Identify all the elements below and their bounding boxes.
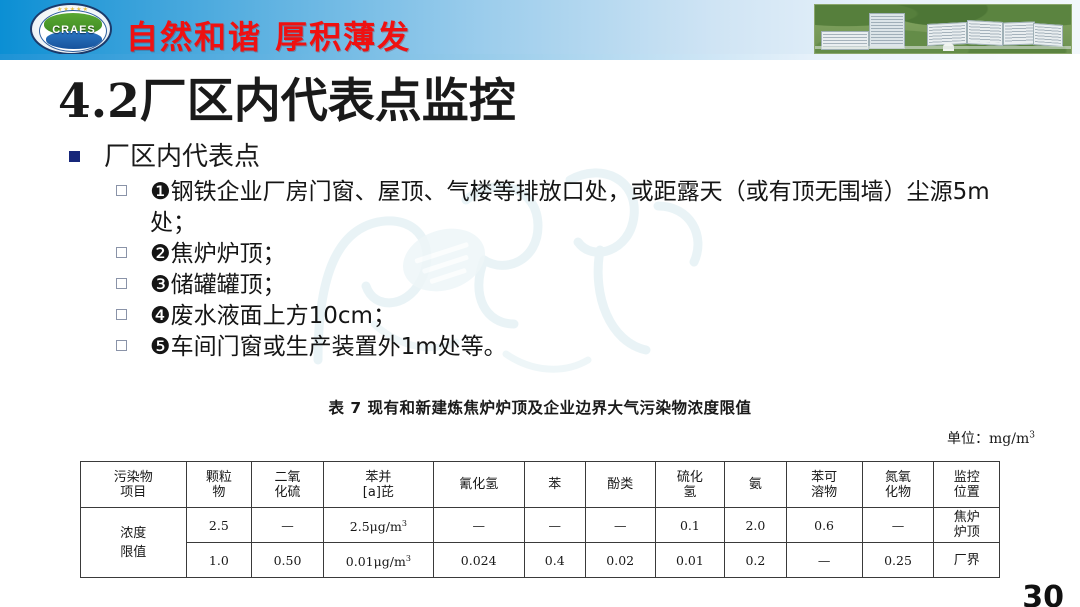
photo-building bbox=[1033, 23, 1063, 47]
list-item-marker: ❹ bbox=[150, 303, 171, 329]
table-cell: 1.0 bbox=[186, 543, 251, 578]
table-cell: — bbox=[524, 508, 585, 543]
hollow-square-bullet-icon bbox=[116, 278, 127, 289]
table-cell: — bbox=[252, 508, 324, 543]
table-cell: 0.50 bbox=[252, 543, 324, 578]
bullet-level1-label: 厂区内代表点 bbox=[104, 142, 260, 172]
page-number: 30 bbox=[1022, 580, 1064, 607]
table-caption: 表 7 现有和新建炼焦炉炉顶及企业边界大气污染物浓度限值 bbox=[0, 396, 1080, 418]
table-cell: 0.25 bbox=[862, 543, 934, 578]
table-header-cell: 颗粒 物 bbox=[186, 462, 251, 508]
slide-header-banner: ★★★★★ CRAES 自然和谐 厚积薄发 bbox=[0, 0, 1080, 60]
table-header-cell: 氮氧 化物 bbox=[862, 462, 934, 508]
units-prefix: 单位： bbox=[947, 431, 989, 447]
logo-acronym-text: CRAES bbox=[40, 24, 107, 36]
presentation-slide: ★★★★★ CRAES 自然和谐 厚积薄发 bbox=[0, 0, 1080, 607]
table-header-cell: 硫化 氢 bbox=[655, 462, 725, 508]
list-item: ❷焦炉炉顶； bbox=[112, 239, 1022, 270]
square-bullet-icon bbox=[69, 151, 80, 162]
photo-building bbox=[1003, 21, 1035, 45]
units-superscript: 3 bbox=[1029, 430, 1035, 440]
craes-logo: ★★★★★ CRAES bbox=[30, 3, 112, 55]
hollow-square-bullet-icon bbox=[116, 185, 127, 196]
list-item-marker: ❸ bbox=[150, 272, 171, 298]
list-item-label: 废水液面上方10cm； bbox=[171, 303, 396, 329]
list-item-marker: ❺ bbox=[150, 334, 171, 360]
pollutant-limits-table: 污染物 项目 颗粒 物 二氧 化硫 苯并 [a]芘 氰化氢 bbox=[80, 461, 1000, 578]
table-cell: — bbox=[862, 508, 934, 543]
photo-road bbox=[815, 46, 1071, 49]
table-cell: — bbox=[585, 508, 655, 543]
table-header-cell: 二氧 化硫 bbox=[252, 462, 324, 508]
table-header-row: 污染物 项目 颗粒 物 二氧 化硫 苯并 [a]芘 氰化氢 bbox=[81, 462, 1000, 508]
units-value: mg/m bbox=[989, 431, 1029, 447]
table-cell: 0.01 bbox=[655, 543, 725, 578]
table-cell: 0.6 bbox=[786, 508, 862, 543]
table-cell: 2.0 bbox=[725, 508, 786, 543]
table-header-cell: 酚类 bbox=[585, 462, 655, 508]
table-row: 1.0 0.50 0.01μg/m3 0.024 0.4 0.02 0.01 0… bbox=[81, 543, 1000, 578]
list-item: ❶钢铁企业厂房门窗、屋顶、气楼等排放口处，或距露天（或有顶无围墙）尘源5m处； bbox=[112, 177, 1022, 239]
logo-oval: ★★★★★ CRAES bbox=[30, 3, 112, 55]
header-bottom-strip bbox=[0, 54, 1080, 60]
table-cell: 0.02 bbox=[585, 543, 655, 578]
table-header-cell: 污染物 项目 bbox=[81, 462, 187, 508]
table-header-cell: 苯并 [a]芘 bbox=[323, 462, 433, 508]
list-item-marker: ❷ bbox=[150, 241, 171, 267]
hollow-square-bullet-icon bbox=[116, 340, 127, 351]
table-header-cell: 氨 bbox=[725, 462, 786, 508]
table-cell: 0.024 bbox=[433, 543, 524, 578]
table-cell: — bbox=[786, 543, 862, 578]
hollow-square-bullet-icon bbox=[116, 247, 127, 258]
list-item: ❹废水液面上方10cm； bbox=[112, 301, 1022, 332]
list-item: ❸储罐罐顶； bbox=[112, 270, 1022, 301]
table-header-cell: 苯 bbox=[524, 462, 585, 508]
list-item-label: 钢铁企业厂房门窗、屋顶、气楼等排放口处，或距露天（或有顶无围墙）尘源5m处； bbox=[150, 179, 990, 236]
header-slogan: 自然和谐 厚积薄发 bbox=[126, 12, 411, 58]
table-cell: 0.2 bbox=[725, 543, 786, 578]
bullet-level2-list: ❶钢铁企业厂房门窗、屋顶、气楼等排放口处，或距露天（或有顶无围墙）尘源5m处； … bbox=[0, 177, 1080, 363]
row-header-concentration-limit: 浓度 限值 bbox=[81, 508, 187, 578]
table-cell-monitoring-position: 厂界 bbox=[934, 543, 1000, 578]
list-item-label: 储罐罐顶； bbox=[171, 272, 286, 298]
photo-building bbox=[967, 20, 1003, 46]
hollow-square-bullet-icon bbox=[116, 309, 127, 320]
slide-content: 厂区内代表点 ❶钢铁企业厂房门窗、屋顶、气楼等排放口处，或距露天（或有顶无围墙）… bbox=[0, 140, 1080, 363]
table-cell: 0.1 bbox=[655, 508, 725, 543]
table-row: 浓度 限值 2.5 — 2.5μg/m3 — — — 0.1 2.0 0.6 —… bbox=[81, 508, 1000, 543]
table-cell: 2.5 bbox=[186, 508, 251, 543]
table-header-cell: 氰化氢 bbox=[433, 462, 524, 508]
list-item-marker: ❶ bbox=[150, 179, 171, 205]
list-item: ❺车间门窗或生产装置外1m处等。 bbox=[112, 332, 1022, 363]
table-cell: 0.01μg/m3 bbox=[323, 543, 433, 578]
table-units-label: 单位：mg/m3 bbox=[947, 428, 1035, 448]
table-cell: 0.4 bbox=[524, 543, 585, 578]
table-cell: — bbox=[433, 508, 524, 543]
photo-building bbox=[869, 13, 905, 49]
table-header-cell: 苯可 溶物 bbox=[786, 462, 862, 508]
list-item-label: 车间门窗或生产装置外1m处等。 bbox=[171, 334, 507, 360]
list-item-label: 焦炉炉顶； bbox=[171, 241, 286, 267]
table-cell: 2.5μg/m3 bbox=[323, 508, 433, 543]
table-header-cell: 监控 位置 bbox=[934, 462, 1000, 508]
logo-inner-disc: CRAES bbox=[39, 10, 107, 52]
bullet-level1: 厂区内代表点 bbox=[66, 140, 1080, 174]
campus-aerial-photo bbox=[814, 4, 1072, 54]
table-cell-monitoring-position: 焦炉 炉顶 bbox=[934, 508, 1000, 543]
page-title: 4.2厂区内代表点监控 bbox=[58, 62, 516, 131]
